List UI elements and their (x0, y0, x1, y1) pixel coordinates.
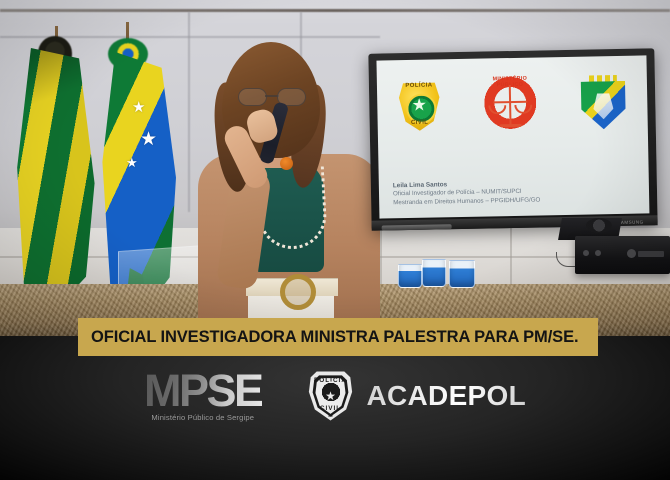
presentation-screen: POLÍCIA ★ CIVIL MINISTÉRIO PÚBLICO (368, 48, 657, 230)
acadepol-wordmark: ACADEPOL (367, 380, 527, 412)
ceiling-line (0, 9, 670, 12)
eyeglasses (238, 88, 306, 104)
event-photo: ★ ★ ★ (0, 0, 670, 336)
belt-buckle (280, 274, 316, 310)
badge-bottom-label: CIVIL (308, 405, 354, 412)
av-equipment (575, 236, 670, 274)
av-display-strip (638, 251, 664, 257)
headline-banner: OFICIAL INVESTIGADORA MINISTRA PALESTRA … (78, 318, 598, 356)
knob-icon (627, 249, 636, 258)
knob-icon (583, 250, 589, 256)
mpse-subtitle: Ministério Público de Sergipe (144, 413, 262, 422)
flag-star: ★ (140, 130, 157, 149)
slide-caption: Leila Lima Santos Oficial Investigador d… (393, 176, 639, 208)
water-cup (398, 264, 422, 288)
water-cup (449, 260, 475, 288)
ministerio-publico-emblem-icon: MINISTÉRIO PÚBLICO (481, 74, 540, 133)
wall-seam (188, 12, 190, 212)
footer-bar: MPSE Ministério Público de Sergipe POLÍC… (0, 336, 670, 480)
speaker-grille-icon (586, 218, 612, 233)
slide: POLÍCIA ★ CIVIL MINISTÉRIO PÚBLICO (376, 55, 649, 218)
mpse-logo: MPSE Ministério Público de Sergipe (144, 370, 262, 421)
sergipe-emblem-icon (579, 73, 628, 132)
badge-sub-label: SE (308, 414, 354, 418)
police-badge-icon: POLÍCIA ★ CIVIL SE (308, 370, 354, 422)
microphone-tip (280, 157, 293, 170)
acadepol-logo: POLÍCIA ★ CIVIL SE ACADEPOL (308, 370, 527, 422)
emblem-bottom-label: CIVIL (398, 119, 442, 126)
flag-star: ★ (126, 156, 138, 169)
emblem-top-label: POLÍCIA (397, 82, 441, 89)
scale-base (500, 124, 522, 127)
flag-star: ★ (132, 100, 145, 115)
policia-civil-emblem-icon: POLÍCIA ★ CIVIL (397, 79, 442, 132)
water-cup (422, 259, 446, 287)
star-icon: ★ (412, 96, 428, 113)
headline-text: OFICIAL INVESTIGADORA MINISTRA PALESTRA … (78, 328, 578, 347)
knob-icon (595, 250, 601, 256)
press-banner: ★ ★ ★ (0, 0, 670, 480)
speaker-figure (196, 42, 386, 336)
star-icon: ★ (325, 390, 336, 402)
mpse-wordmark: MPSE (144, 370, 262, 411)
logo-row: MPSE Ministério Público de Sergipe POLÍC… (0, 370, 670, 422)
tile-grout-line (510, 228, 512, 288)
slide-emblems: POLÍCIA ★ CIVIL MINISTÉRIO PÚBLICO (377, 63, 648, 144)
pen-tray (382, 224, 452, 230)
lens (238, 88, 267, 106)
